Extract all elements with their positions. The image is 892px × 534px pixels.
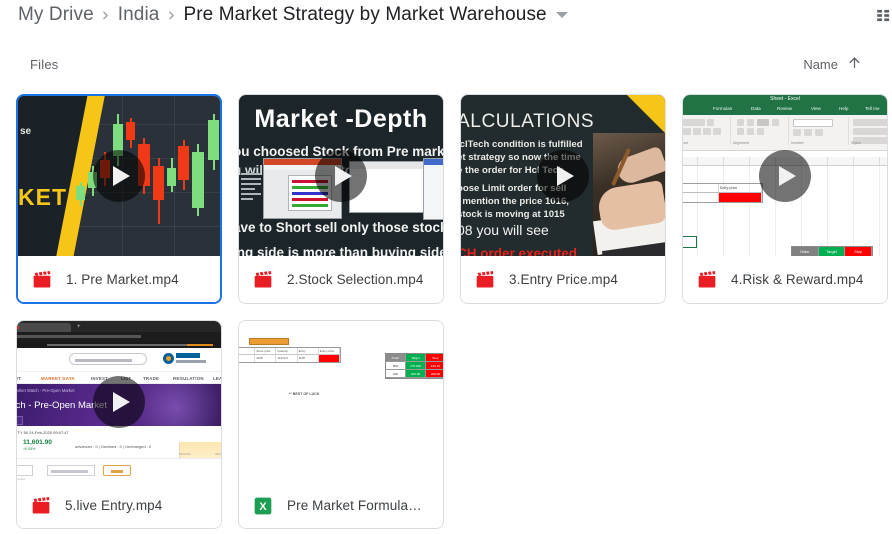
play-button-overlay[interactable] (759, 150, 811, 202)
play-button-overlay[interactable] (315, 150, 367, 202)
side-text-block (241, 173, 261, 203)
index-stats: advances : 0 | Declines : 0 | Unchanged … (75, 444, 151, 449)
file-card-footer: X Pre Market Formulae ... (239, 482, 443, 528)
chevron-right-icon (94, 5, 118, 25)
clapperboard-icon (31, 496, 51, 516)
file-thumbnail-spreadsheet[interactable]: elStore pricequantityEntryEntry price 61… (239, 321, 443, 482)
file-card-pre-market[interactable]: se KET (16, 94, 222, 304)
excel-ribbon: Font Alignment Number (683, 115, 887, 151)
breadcrumb: My Drive India Pre Market Strategy by Ma… (18, 4, 882, 26)
file-card-entry-price[interactable]: ALCULATIONS lclTech condition is fulfill… (460, 94, 666, 304)
file-thumbnail-excel[interactable]: Sheet - Excel FormulasData ReviewView He… (683, 95, 887, 256)
thumb-line-3: ave to Short sell only those stocks (239, 220, 443, 235)
excel-table-entry: tyEntry price 175 (683, 183, 763, 203)
sheet-table-entry: elStore pricequantityEntryEntry price 61… (239, 347, 341, 363)
file-card-footer: 5.live Entry.mp4 (17, 482, 221, 528)
thumb-line-big: 08 you will see (461, 222, 549, 238)
candle (208, 114, 219, 170)
file-name: Pre Market Formulae ... (287, 498, 429, 513)
play-button-overlay[interactable] (537, 150, 589, 202)
clapperboard-icon (32, 270, 52, 290)
site-breadcrumb: Market Watch - Pre-Open Market (17, 388, 75, 393)
browser-urlbar (17, 332, 221, 342)
thumb-line-4: ing side is more than buying side by (239, 245, 443, 256)
candle (167, 158, 176, 192)
clapperboard-icon (697, 270, 717, 290)
file-name: 1. Pre Market.mp4 (66, 272, 179, 287)
excel-selected-cell (683, 236, 697, 248)
candle (178, 140, 189, 190)
sheet-table-targets: OrderTargetStop 800175.000182.01 200302.… (385, 353, 443, 379)
browser-tabbar: + (17, 321, 221, 332)
sort-control[interactable]: Name (803, 55, 862, 73)
clapperboard-icon (475, 270, 495, 290)
sort-label: Name (803, 57, 838, 72)
clapperboard-icon (253, 270, 273, 290)
sheet-note: ** BEST OF LUCK (289, 392, 319, 396)
caret-down-icon[interactable] (556, 12, 568, 18)
site-search-input[interactable] (69, 353, 147, 365)
thumb-heading: ALCULATIONS (461, 111, 594, 133)
file-thumbnail-market-depth[interactable]: Market -Depth ou choosed Stock from Pre … (239, 95, 443, 256)
file-name: 2.Stock Selection.mp4 (287, 272, 423, 287)
file-card-footer: 2.Stock Selection.mp4 (239, 256, 443, 302)
file-card-pre-market-formulae[interactable]: elStore pricequantityEntryEntry price 61… (238, 320, 444, 529)
site-index-data: NIFTY 50 24-Feb-2020 09:07:47 11,601.90 … (17, 426, 221, 458)
file-card-footer: 4.Risk & Reward.mp4 (683, 256, 887, 302)
file-name: 4.Risk & Reward.mp4 (731, 272, 863, 287)
excel-menubar: FormulasData ReviewView HelpTell me (683, 104, 887, 115)
grid-view-icon[interactable] (870, 2, 892, 28)
thumb-line-f: stock is moving at 1015 (461, 209, 565, 220)
breadcrumb-item-my-drive[interactable]: My Drive (18, 4, 94, 26)
chevron-right-icon-2 (159, 5, 183, 25)
file-name: 3.Entry Price.mp4 (509, 272, 618, 287)
sheet-banner (249, 338, 289, 345)
file-card-stock-selection[interactable]: Market -Depth ou choosed Stock from Pre … (238, 94, 444, 304)
file-card-risk-reward[interactable]: Sheet - Excel FormulasData ReviewView He… (682, 94, 888, 304)
site-clear-button[interactable] (103, 465, 131, 476)
index-change: +0.05% (23, 447, 35, 451)
site-symbol-input[interactable] (47, 465, 95, 476)
inner-screenshot-c (423, 158, 443, 220)
svg-text:X: X (259, 501, 267, 513)
file-grid: se KET (0, 82, 892, 529)
thumb-text-partial: se (20, 126, 31, 137)
yellow-corner-accent (627, 95, 665, 133)
site-filter-row: Symbol (17, 458, 221, 482)
excel-title: Sheet - Excel (683, 95, 887, 104)
candle (192, 144, 204, 216)
breadcrumb-bar: My Drive India Pre Market Strategy by Ma… (0, 0, 892, 30)
files-section-title: Files (30, 57, 58, 72)
file-thumbnail-nse-site[interactable]: + OUT MARKET DATA INVEST LIST TRADE REGU… (17, 321, 221, 482)
file-name: 5.live Entry.mp4 (65, 498, 162, 513)
files-section-bar: Files Name (0, 46, 892, 82)
nse-logo (163, 352, 221, 365)
photo-hands-writing (593, 133, 665, 256)
candle (126, 118, 135, 148)
breadcrumb-item-current-folder[interactable]: Pre Market Strategy by Market Warehouse (183, 4, 546, 26)
thumb-heading: Market -Depth (239, 105, 443, 134)
play-button-overlay[interactable] (93, 150, 145, 202)
excel-table-risk-reward: OrderTargetStop 800175.000182.01 200302.… (791, 246, 873, 256)
breadcrumb-item-india[interactable]: India (118, 4, 160, 26)
file-thumbnail-candlestick[interactable]: se KET (18, 96, 220, 256)
play-button-overlay[interactable] (93, 376, 145, 428)
thumb-line-a: lclTech condition is fulfilled (461, 139, 583, 150)
candle (76, 182, 85, 206)
file-card-footer: 1. Pre Market.mp4 (18, 256, 220, 302)
site-select[interactable] (17, 465, 33, 476)
index-value: 11,601.90 (23, 439, 52, 446)
file-card-footer: 3.Entry Price.mp4 (461, 256, 665, 302)
arrow-up-icon (847, 55, 862, 73)
thumb-text-big: KET (18, 184, 67, 211)
thumb-line-red: CH order executed (461, 246, 577, 256)
file-thumbnail-calculations[interactable]: ALCULATIONS lclTech condition is fulfill… (461, 95, 665, 256)
file-card-live-entry[interactable]: + OUT MARKET DATA INVEST LIST TRADE REGU… (16, 320, 222, 529)
site-search-row (17, 348, 221, 371)
excel-x-icon: X (253, 496, 273, 516)
candle (153, 158, 164, 224)
